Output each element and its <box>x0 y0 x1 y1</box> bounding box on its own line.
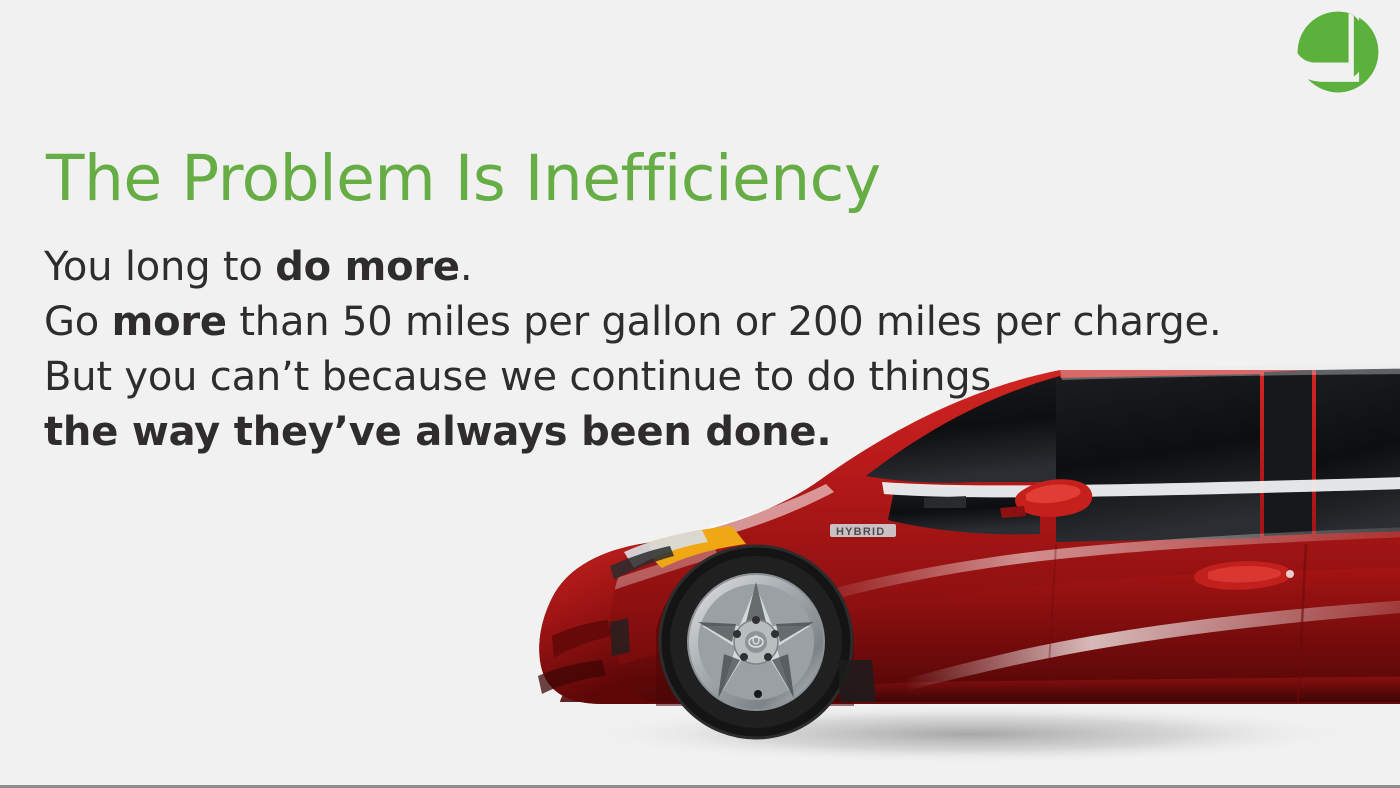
body-line-2-text-b: than 50 miles per gallon or 200 miles pe… <box>227 299 1222 345</box>
body-line-3: But you can’t because we continue to do … <box>44 350 1224 405</box>
circular-leaf-mark-icon <box>1294 8 1382 96</box>
body-line-1-emphasis: do more <box>275 244 460 290</box>
body-line-1-text-a: You long to <box>44 244 275 290</box>
car-mirror-stalk <box>1000 506 1026 518</box>
brand-logo[interactable] <box>1294 8 1382 96</box>
car-rear-door-glass <box>1316 368 1400 534</box>
page-title: The Problem Is Inefficiency <box>46 146 881 212</box>
car-fog-lamp <box>610 618 630 656</box>
car-b-pillar <box>1264 370 1312 536</box>
car-hybrid-badge: HYBRID <box>830 524 896 538</box>
body-line-2-emphasis: more <box>112 299 227 345</box>
slide-canvas: The Problem Is Inefficiency You long to … <box>0 0 1400 788</box>
body-copy: You long to do more. Go more than 50 mil… <box>44 240 1224 460</box>
body-line-1-text-b: . <box>460 244 473 290</box>
car-window-vent <box>924 496 966 508</box>
body-line-1: You long to do more. <box>44 240 1224 295</box>
car-hybrid-badge-text: HYBRID <box>836 526 885 538</box>
body-line-2: Go more than 50 miles per gallon or 200 … <box>44 295 1224 350</box>
body-line-2-text-a: Go <box>44 299 112 345</box>
car-front-wheel <box>656 546 854 738</box>
body-line-4: the way they’ve always been done. <box>44 405 1224 460</box>
car-mud-flap <box>838 660 876 702</box>
